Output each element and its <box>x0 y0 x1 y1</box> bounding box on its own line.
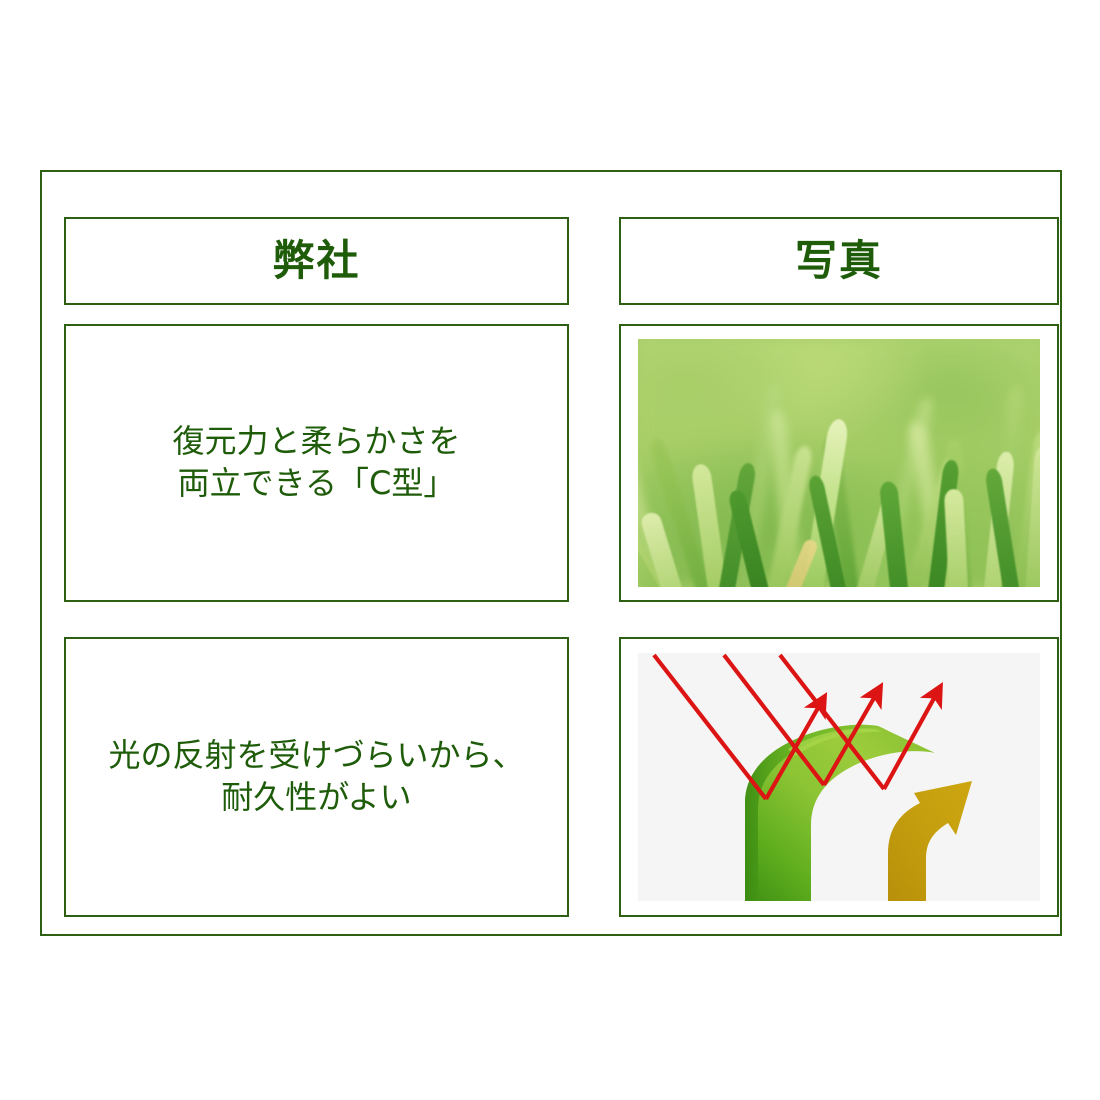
slide-canvas: 弊社 写真 復元力と柔らかさを 両立できる「C型」 <box>0 0 1100 1100</box>
table-header-label-photo: 写真 <box>795 240 883 282</box>
table-header-label-company: 弊社 <box>272 240 360 282</box>
feature-text-1-line-2: 両立できる「C型」 <box>172 463 460 505</box>
light-reflection-diagram <box>638 653 1040 901</box>
feature-text-2-line-2: 耐久性がよい <box>108 777 524 819</box>
light-reflection-svg <box>638 653 1040 901</box>
table-header-cell-photo: 写真 <box>619 217 1059 305</box>
artificial-turf-closeup-photo <box>638 339 1040 587</box>
feature-text-2-line-1: 光の反射を受けづらいから、 <box>108 735 524 777</box>
table-cell-feature-text-1: 復元力と柔らかさを 両立できる「C型」 <box>64 324 569 602</box>
feature-text-2: 光の反射を受けづらいから、 耐久性がよい <box>94 735 538 818</box>
comparison-table: 弊社 写真 復元力と柔らかさを 両立できる「C型」 <box>40 170 1062 936</box>
table-grid: 弊社 写真 復元力と柔らかさを 両立できる「C型」 <box>64 217 1039 917</box>
feature-text-1: 復元力と柔らかさを 両立できる「C型」 <box>158 421 474 504</box>
feature-text-1-line-1: 復元力と柔らかさを <box>172 421 460 463</box>
table-cell-media-2 <box>619 637 1059 917</box>
table-header-cell-company: 弊社 <box>64 217 569 305</box>
table-cell-media-1 <box>619 324 1059 602</box>
table-cell-feature-text-2: 光の反射を受けづらいから、 耐久性がよい <box>64 637 569 917</box>
diagram-background <box>638 653 1040 901</box>
